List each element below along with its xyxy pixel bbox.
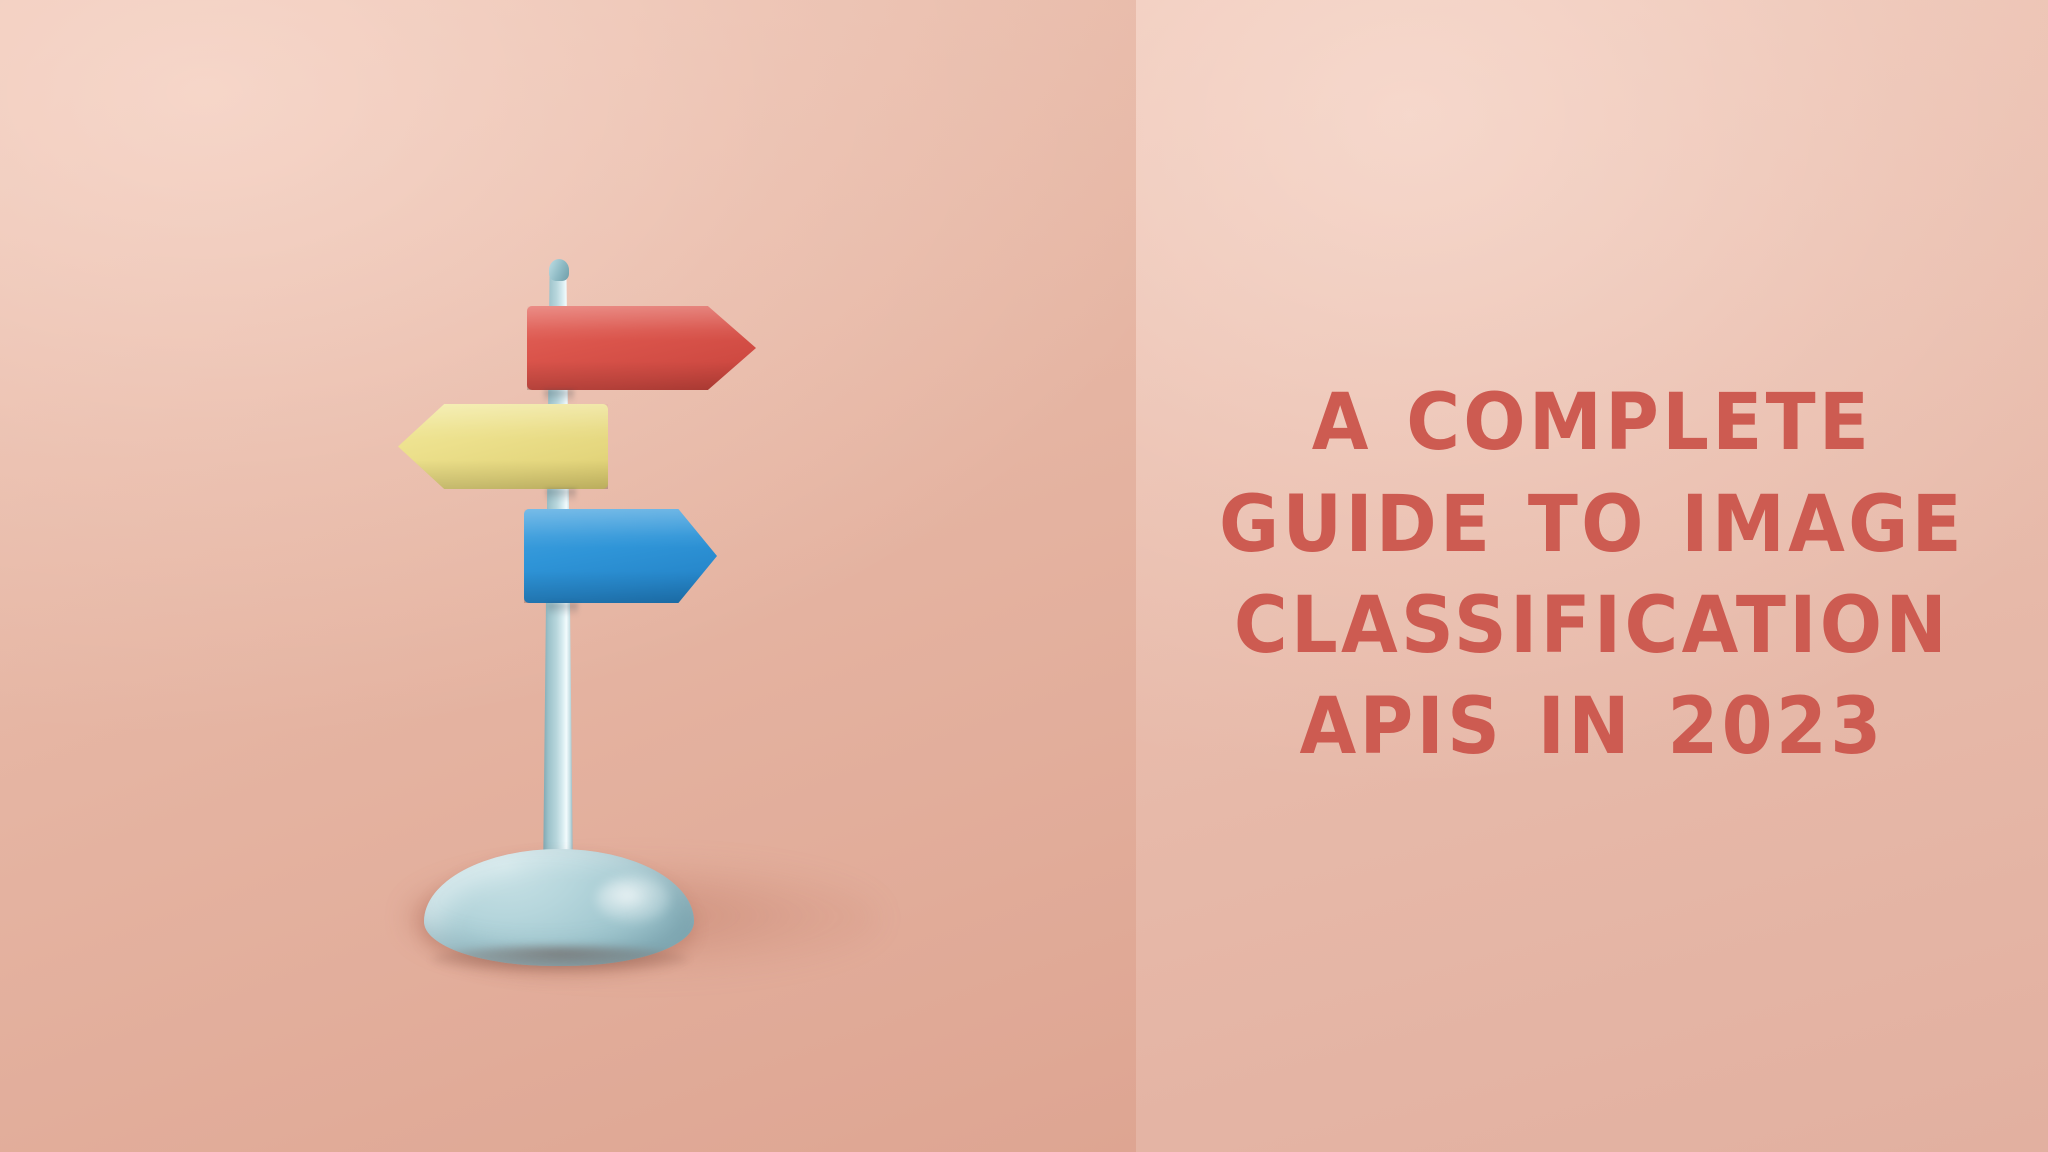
- direction-sign-blue-shade: [524, 571, 717, 603]
- direction-sign-red-gloss: [527, 306, 756, 341]
- banner-canvas: A COMPLETE GUIDE TO IMAGE CLASSIFICATION…: [0, 0, 2048, 1152]
- direction-sign-blue-gloss: [524, 509, 717, 548]
- direction-sign-red-shade: [527, 361, 756, 390]
- direction-sign-yellow-gloss: [398, 404, 608, 440]
- signpost-base-highlight: [596, 876, 670, 922]
- signpost-illustration: [0, 0, 1136, 1152]
- headline-block: A COMPLETE GUIDE TO IMAGE CLASSIFICATION…: [1136, 0, 2048, 1152]
- direction-sign-yellow-shade: [398, 460, 608, 489]
- signpost-base-contact-shadow: [432, 946, 688, 972]
- sign-shadow-red: [544, 390, 574, 403]
- sign-shadow-blue: [548, 603, 578, 616]
- direction-sign-yellow: [398, 404, 608, 489]
- sign-shadow-yellow: [546, 489, 576, 502]
- page-title: A COMPLETE GUIDE TO IMAGE CLASSIFICATION…: [1212, 373, 1972, 779]
- signpost-pole-cap: [549, 259, 569, 281]
- direction-sign-blue: [524, 509, 717, 603]
- direction-sign-red: [527, 306, 756, 390]
